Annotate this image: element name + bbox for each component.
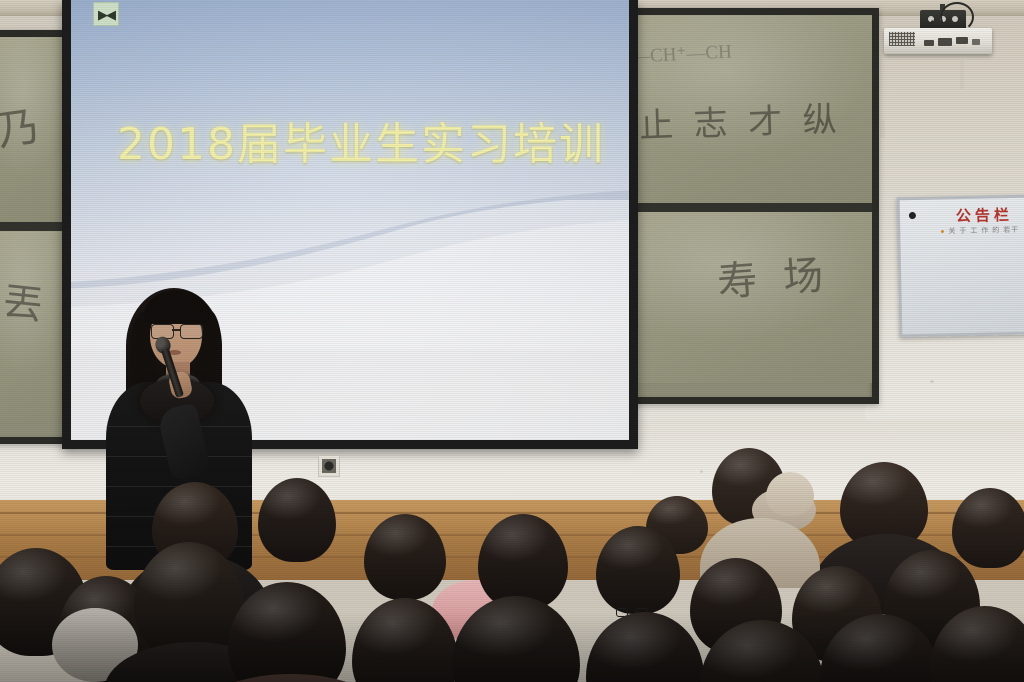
projector-lens <box>972 39 980 45</box>
audience-head <box>596 526 680 614</box>
slide-title: 2018届毕业生实习培训 <box>117 108 587 172</box>
projector-port <box>938 38 952 46</box>
ceiling-projector <box>884 4 994 60</box>
notice-board-subtitle: ● 关 于 工 作 的 若干 <box>940 225 1019 237</box>
notice-board-subtitle-text: 关 于 工 作 的 若干 <box>948 227 1019 235</box>
wall-mark <box>930 380 934 383</box>
wall-stain <box>880 120 885 138</box>
chalkboard-left-divider <box>0 222 69 231</box>
chalk-writing: 丟 <box>0 269 46 331</box>
chalk-writing: 止 志 才 纵 <box>638 91 843 147</box>
audience-head <box>586 612 704 682</box>
collapse-arrows-glyph: ▶◀ <box>98 8 114 21</box>
wall-stain <box>960 60 964 90</box>
audience-head <box>766 472 814 516</box>
chalk-writing: 寿 场 <box>715 242 833 308</box>
chalkboard-left-panel-top: 乃 <box>0 37 69 222</box>
eyeglasses-icon <box>151 324 201 337</box>
notice-board-title: 公告栏 <box>956 204 1013 226</box>
audience-head <box>364 514 446 600</box>
audience-head <box>258 478 336 562</box>
chalkboard-right-panel-bottom: 寿 场 <box>625 212 872 383</box>
chalkboard-right-divider <box>625 203 872 212</box>
classroom-scene: 乃 丟 —CH⁺—CH 止 志 才 纵 寿 场 <box>0 0 1024 682</box>
projector-vent-icon <box>889 32 915 46</box>
collapse-arrows-icon[interactable]: ▶◀ <box>93 2 119 26</box>
audience-head <box>952 488 1024 568</box>
audience <box>0 430 1024 682</box>
notice-board: 公告栏 ● 关 于 工 作 的 若干 <box>897 195 1024 338</box>
chalkboard-left-panel-bottom: 丟 <box>0 231 69 423</box>
chalk-writing: 乃 <box>0 92 43 158</box>
pin-dot-icon <box>909 212 916 219</box>
chalkboard-right: —CH⁺—CH 止 志 才 纵 寿 场 <box>618 8 879 404</box>
chalkboard-right-panel-top: —CH⁺—CH 止 志 才 纵 <box>625 15 872 203</box>
projector-port <box>924 40 934 46</box>
projector-port <box>956 37 968 44</box>
chalk-formula: —CH⁺—CH <box>630 40 732 68</box>
